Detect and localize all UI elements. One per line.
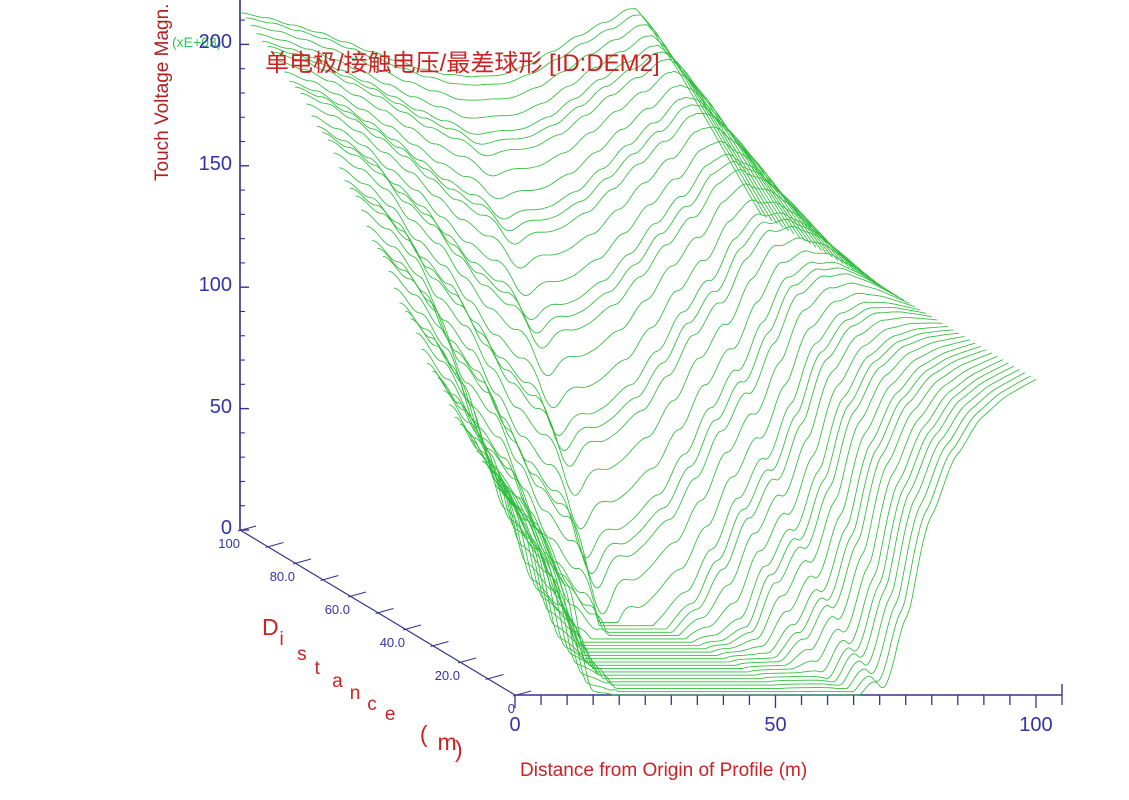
z-axis-tick-label: 100 bbox=[194, 536, 240, 551]
axes-layer bbox=[238, 0, 1062, 708]
y-axis-tick-label: 100 bbox=[172, 274, 232, 297]
z-axis-tick-label: 80.0 bbox=[249, 569, 295, 584]
z-axis-label-char: t bbox=[315, 658, 320, 680]
z-axis-label-char: ) bbox=[455, 736, 463, 763]
z-axis-label-char: D bbox=[262, 614, 279, 641]
surface-profile-line bbox=[306, 104, 827, 268]
z-axis-tick bbox=[376, 609, 394, 614]
z-axis-tick bbox=[293, 559, 311, 564]
surface-profile-line bbox=[328, 140, 849, 348]
x-axis-label: Distance from Origin of Profile (m) bbox=[520, 760, 807, 782]
z-axis-label-char: i bbox=[280, 629, 284, 651]
y-axis-tick-label: 200 bbox=[172, 31, 232, 54]
surface-profile-line bbox=[295, 87, 816, 247]
surface-profile-line bbox=[515, 379, 1036, 695]
surface-profile-line bbox=[339, 168, 860, 408]
surface-profile-line bbox=[394, 288, 915, 622]
z-axis-label-char: ( bbox=[420, 721, 428, 748]
z-axis-tick bbox=[431, 642, 449, 647]
z-axis-tick bbox=[321, 576, 339, 581]
x-axis-tick-label: 0 bbox=[485, 714, 545, 737]
z-axis-tick bbox=[348, 592, 366, 597]
z-axis-tick-label: 20.0 bbox=[414, 668, 460, 683]
z-axis-label-char: m bbox=[437, 729, 456, 756]
y-axis-label: Touch Voltage Magn. (Volts) [Wors] bbox=[152, 157, 174, 181]
z-axis-tick-label: 60.0 bbox=[304, 602, 350, 617]
z-axis-tick bbox=[266, 543, 284, 548]
z-axis-tick-label: 0 bbox=[469, 701, 515, 716]
y-axis-tick-label: 150 bbox=[172, 153, 232, 176]
surface-profile-line bbox=[455, 343, 976, 659]
surface-profile-line bbox=[449, 340, 970, 656]
surface-profile-line bbox=[471, 353, 992, 669]
z-axis-label-char: a bbox=[332, 671, 343, 693]
surface-profile-line bbox=[488, 363, 1009, 679]
y-axis-tick-label: 50 bbox=[172, 396, 232, 419]
surface-profile-line bbox=[466, 350, 987, 666]
surface-profile-line bbox=[504, 373, 1025, 689]
surface-profile-line bbox=[378, 248, 899, 573]
z-axis-label-char: s bbox=[297, 644, 307, 666]
surface-profile-line bbox=[361, 210, 882, 495]
x-axis-tick-label: 100 bbox=[1006, 714, 1066, 737]
z-axis-tick-label: 40.0 bbox=[359, 635, 405, 650]
z-axis-tick bbox=[458, 658, 476, 663]
z-axis-tick bbox=[486, 675, 504, 680]
surface-profile-line bbox=[240, 9, 761, 215]
z-axis-tick bbox=[403, 625, 421, 630]
z-axis-label-char: e bbox=[385, 704, 396, 726]
surface-profile-line bbox=[317, 126, 838, 319]
x-axis-tick-label: 50 bbox=[745, 714, 805, 737]
surface-profile-line bbox=[433, 330, 954, 646]
page-title: 单电极/接触电压/最差球形 [ID:DEM2] bbox=[265, 43, 660, 78]
surface-profile-line bbox=[301, 93, 822, 250]
surface-profile-line bbox=[405, 307, 926, 629]
surface-profile-line bbox=[400, 302, 921, 626]
plot-window: (xE+03) 单电极/接触电压/最差球形 [ID:DEM2] Touch Vo… bbox=[0, 0, 1129, 800]
z-axis-label-char: n bbox=[350, 683, 361, 705]
wireframe-surface bbox=[240, 9, 1036, 696]
z-axis-label-char: c bbox=[367, 694, 377, 716]
